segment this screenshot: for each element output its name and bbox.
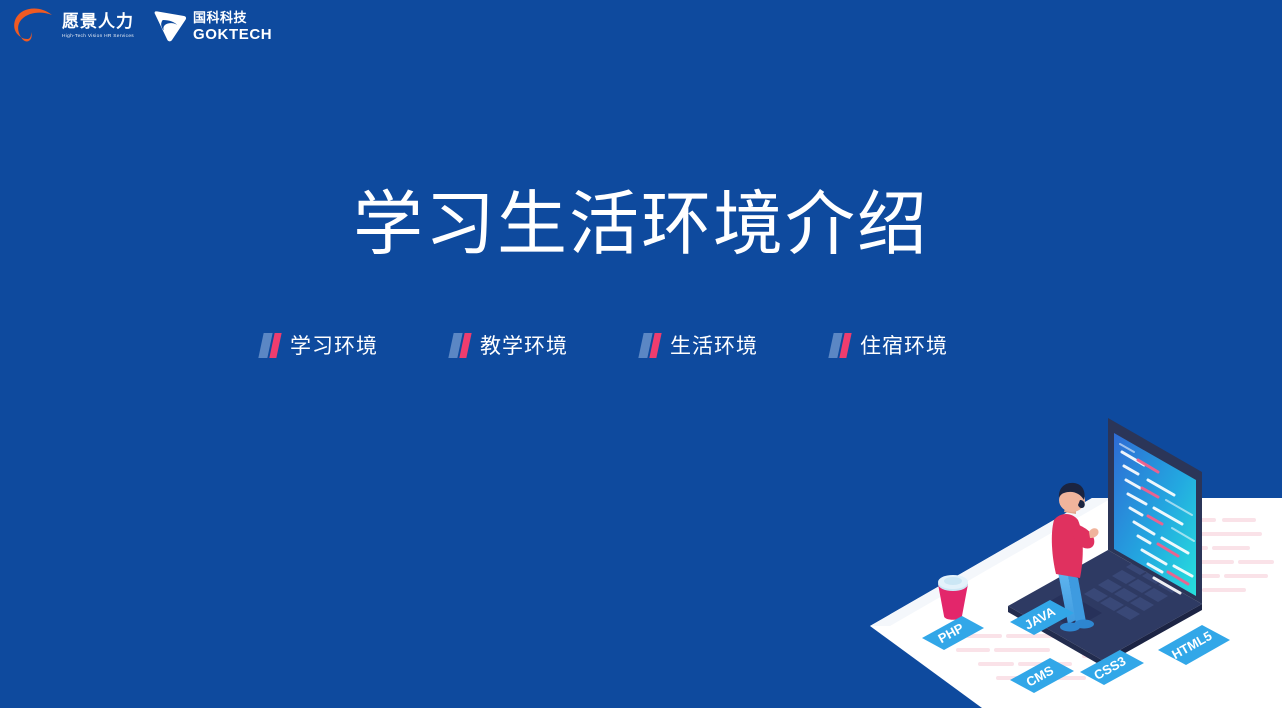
goktech-wordmark: 国科科技 GOKTECH (193, 11, 272, 42)
nav-item-0[interactable]: 学习环境 (261, 330, 451, 360)
yuanjing-tagline: High-Tech Vision HR Services (62, 34, 134, 39)
isometric-developer-illustration: PHP JAVA CMS CSS3 HTML5 (862, 408, 1282, 708)
yuanjing-wordmark: 愿景人力 High-Tech Vision HR Services (62, 13, 137, 39)
nav-marker-icon (258, 333, 281, 358)
goktech-shield-icon (153, 10, 187, 42)
logo-goktech[interactable]: 国科科技 GOKTECH (153, 10, 272, 42)
yuanjing-name-cn: 愿景人力 (62, 13, 137, 30)
nav-item-label: 住宿环境 (860, 330, 948, 360)
logo-yuanjing[interactable]: 愿景人力 High-Tech Vision HR Services (12, 6, 137, 46)
section-nav: 学习环境 教学环境 生活环境 住宿环境 (0, 330, 1282, 360)
nav-item-label: 学习环境 (290, 330, 378, 360)
nav-item-1[interactable]: 教学环境 (451, 330, 641, 360)
nav-item-label: 教学环境 (480, 330, 568, 360)
nav-item-2[interactable]: 生活环境 (641, 330, 831, 360)
nav-marker-icon (828, 333, 851, 358)
nav-item-3[interactable]: 住宿环境 (831, 330, 1021, 360)
goktech-name-en: GOKTECH (193, 27, 272, 42)
yuanjing-swoosh-icon (12, 6, 56, 46)
goktech-name-cn: 国科科技 (193, 11, 272, 24)
nav-marker-icon (638, 333, 661, 358)
slide-root: 愿景人力 High-Tech Vision HR Services 国科科技 G… (0, 0, 1282, 708)
page-title: 学习生活环境介绍 (0, 186, 1282, 263)
nav-marker-icon (448, 333, 471, 358)
logo-bar: 愿景人力 High-Tech Vision HR Services 国科科技 G… (12, 6, 272, 46)
nav-item-label: 生活环境 (670, 330, 758, 360)
